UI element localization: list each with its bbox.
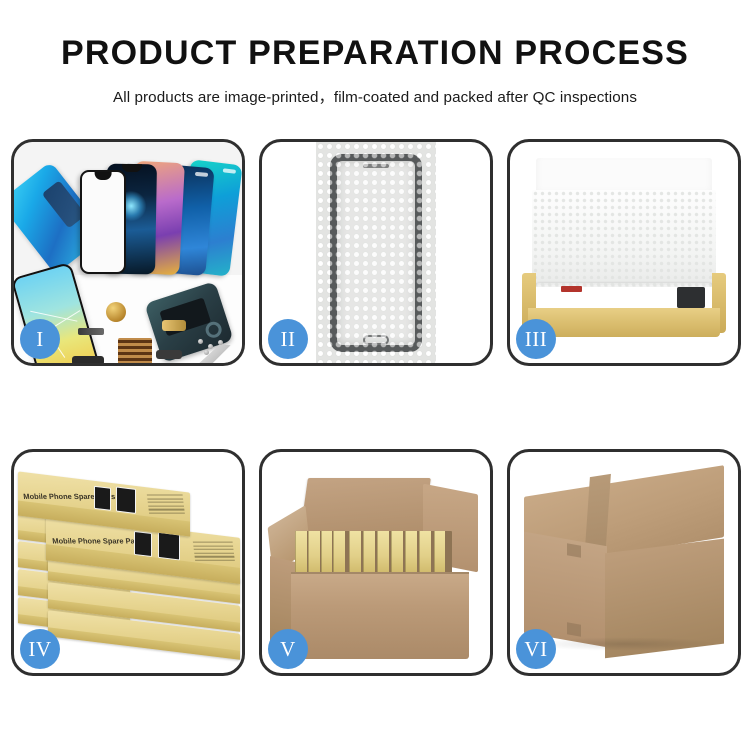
- header: PRODUCT PREPARATION PROCESS All products…: [0, 0, 750, 107]
- step-badge-6: VI: [516, 629, 556, 669]
- step-badge-4: IV: [20, 629, 60, 669]
- packed-box: [295, 531, 307, 575]
- packed-box: [333, 531, 345, 575]
- box-spec-lines: [147, 495, 185, 517]
- page-subtitle: All products are image-printed，film-coat…: [0, 85, 750, 107]
- carton-front-panel: [291, 572, 469, 659]
- box-phone-image: [116, 486, 136, 513]
- carton-seam: [291, 572, 469, 574]
- packed-box: [419, 531, 431, 575]
- step-panel-4: Mobile Phone Spare Parts Mobile Phone Sp…: [11, 449, 245, 676]
- box-phone-image: [94, 486, 111, 511]
- notch-icon: [95, 172, 112, 180]
- notch-icon: [122, 164, 142, 172]
- flex-cable-part-b: [162, 320, 186, 331]
- product-preparation-infographic: PRODUCT PREPARATION PROCESS All products…: [0, 0, 750, 750]
- packed-box: [321, 531, 333, 575]
- step-panel-1: I: [11, 139, 245, 366]
- step-badge-2: II: [268, 319, 308, 359]
- flex-cable-part-c: [156, 350, 182, 359]
- connector-grid-part: [118, 338, 152, 363]
- step-badge-1: I: [20, 319, 60, 359]
- bubble-wrap-overlay: [316, 142, 436, 363]
- packed-box: [391, 531, 403, 575]
- camera-pill-icon: [195, 172, 208, 177]
- step-panel-2: II: [259, 139, 493, 366]
- step-panel-5: V: [259, 449, 493, 676]
- carton-back-flap: [300, 478, 431, 534]
- sealed-carton: [520, 474, 728, 655]
- packed-box: [434, 531, 446, 575]
- box-label-text-2: Mobile Phone Spare Parts: [52, 536, 145, 545]
- packed-box: [363, 531, 375, 575]
- packed-box: [405, 531, 417, 575]
- screw-icon: [218, 340, 223, 345]
- gold-coil-part: [106, 302, 126, 322]
- screws-group: [198, 339, 224, 355]
- screen-flex-connector: [677, 287, 705, 309]
- red-label-sticker: [561, 286, 582, 292]
- box-spec-lines: [193, 542, 235, 564]
- step-badge-5: V: [268, 629, 308, 669]
- carton-shadow: [528, 637, 719, 651]
- bubble-wrap-photo: [316, 142, 436, 363]
- connector-bar-part: [78, 328, 104, 335]
- carton-flap-notch: [567, 543, 580, 558]
- box-side: [48, 627, 240, 659]
- camera-pill-icon: [223, 168, 236, 174]
- kraft-box-open: [524, 158, 724, 337]
- box-phone-image: [134, 531, 152, 557]
- packed-box: [308, 531, 320, 575]
- process-steps-grid: I II: [11, 139, 741, 676]
- step-badge-3: III: [516, 319, 556, 359]
- phone-screens-fan: [66, 156, 241, 274]
- box-front-panel: [528, 308, 720, 337]
- flex-cable-part-a: [72, 356, 104, 363]
- step-panel-3: III: [507, 139, 741, 366]
- screw-icon: [208, 344, 213, 349]
- packed-box: [349, 531, 361, 575]
- screw-icon: [198, 339, 203, 344]
- carton-flap-notch: [567, 623, 580, 638]
- packed-box: [377, 531, 389, 575]
- carton-contents: [295, 531, 452, 575]
- open-carton: [270, 474, 482, 659]
- phone-screen-1: [80, 170, 126, 274]
- page-title: PRODUCT PREPARATION PROCESS: [0, 36, 750, 72]
- step-panel-6: VI: [507, 449, 741, 676]
- box-phone-image: [158, 532, 180, 561]
- foam-padding: [532, 190, 716, 287]
- screw-icon: [204, 350, 209, 355]
